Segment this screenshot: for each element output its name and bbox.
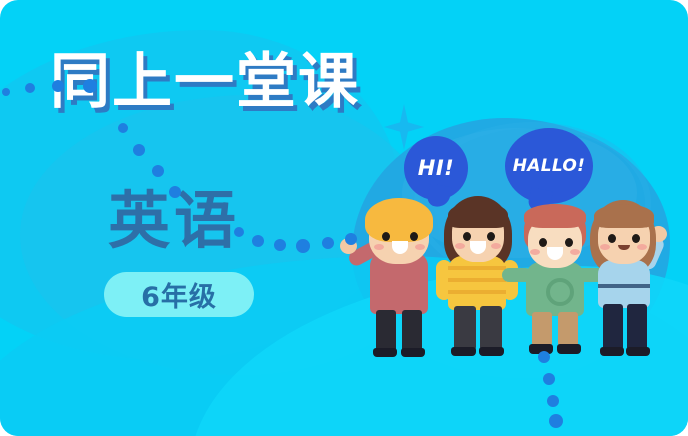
eye-left (382, 232, 390, 241)
head (598, 212, 650, 264)
decorative-dot (322, 237, 334, 249)
page-title: 同上一堂课 (50, 52, 360, 112)
speech-bubble-hallo-text: HALLO! (513, 156, 585, 176)
leg-right (558, 312, 578, 348)
eye-left (463, 232, 471, 241)
poster-card: 同上一堂课 英语 6年级 HI! HALLO! (0, 0, 688, 436)
decorative-dot (2, 88, 10, 96)
eye-right (410, 232, 418, 241)
grade-badge: 6年级 (104, 272, 254, 317)
leg-left (603, 304, 623, 352)
decorative-dot (133, 144, 145, 156)
eye-left (539, 238, 547, 247)
character-boy-blonde-waving (356, 188, 442, 356)
decorative-dot (345, 233, 357, 245)
eye-left (608, 234, 616, 243)
eye-right (632, 234, 640, 243)
character-girl-light-brown (584, 188, 666, 356)
shoe-left (451, 347, 476, 356)
cheek-left (374, 244, 384, 250)
grade-badge-label: 6年级 (141, 275, 217, 314)
speech-bubble-hi-text: HI! (418, 156, 454, 180)
shoe-right (557, 344, 581, 354)
decorative-dot (152, 165, 164, 177)
cheek-right (491, 243, 501, 249)
shoe-right (626, 347, 650, 356)
shoe-right (479, 347, 504, 356)
body-shirt (448, 256, 506, 310)
cheek-left (530, 249, 540, 255)
characters-illustration (352, 186, 652, 356)
subject-title: 英语 (108, 190, 240, 252)
shoe-right (401, 348, 425, 357)
decorative-dot (52, 80, 64, 92)
decorative-dot (169, 186, 181, 198)
hair (365, 198, 433, 242)
cheek-right (415, 244, 425, 250)
leg-left (454, 306, 476, 352)
decorative-dot (118, 123, 128, 133)
body-tshirt (526, 262, 584, 316)
decorative-dot (83, 79, 97, 93)
shoe-left (373, 348, 397, 357)
cheek-right (570, 249, 580, 255)
decorative-dot (25, 83, 35, 93)
cheek-right (637, 244, 647, 250)
decorative-dot (296, 239, 310, 253)
decorative-dot (547, 395, 559, 407)
eye-right (565, 238, 573, 247)
decorative-dot (543, 373, 555, 385)
leg-left (532, 312, 552, 348)
leg-right (627, 304, 647, 352)
eye-right (487, 232, 495, 241)
shoe-left (600, 347, 624, 356)
body-tshirt (598, 260, 650, 308)
decorative-dot (252, 235, 264, 247)
head (528, 216, 582, 268)
leg-right (480, 306, 502, 352)
decorative-dot (538, 351, 550, 363)
decorative-dot (274, 239, 286, 251)
cheek-left (455, 243, 465, 249)
cheek-left (600, 244, 610, 250)
decorative-dot (234, 227, 244, 237)
decorative-dot (549, 414, 563, 428)
